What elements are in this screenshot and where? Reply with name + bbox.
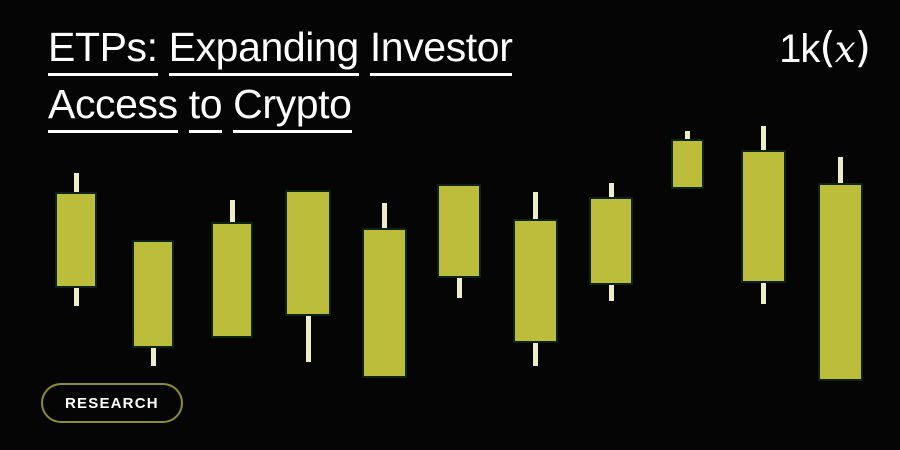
candlestick-body [589, 197, 633, 285]
candlestick-body [671, 139, 704, 189]
research-cover-card: ETPs: Expanding Investor Access to Crypt… [0, 0, 900, 450]
candlestick-body [55, 192, 97, 288]
candlestick-body [437, 184, 481, 278]
candlestick-body [513, 219, 558, 343]
research-badge-label: RESEARCH [65, 395, 159, 412]
candlestick-body [132, 240, 174, 348]
candlestick-body [285, 190, 331, 316]
research-badge[interactable]: RESEARCH [41, 383, 183, 423]
candlestick-body [362, 228, 407, 378]
candlestick-body [818, 183, 863, 381]
candlestick-body [741, 150, 786, 283]
candlestick-body [211, 222, 253, 338]
